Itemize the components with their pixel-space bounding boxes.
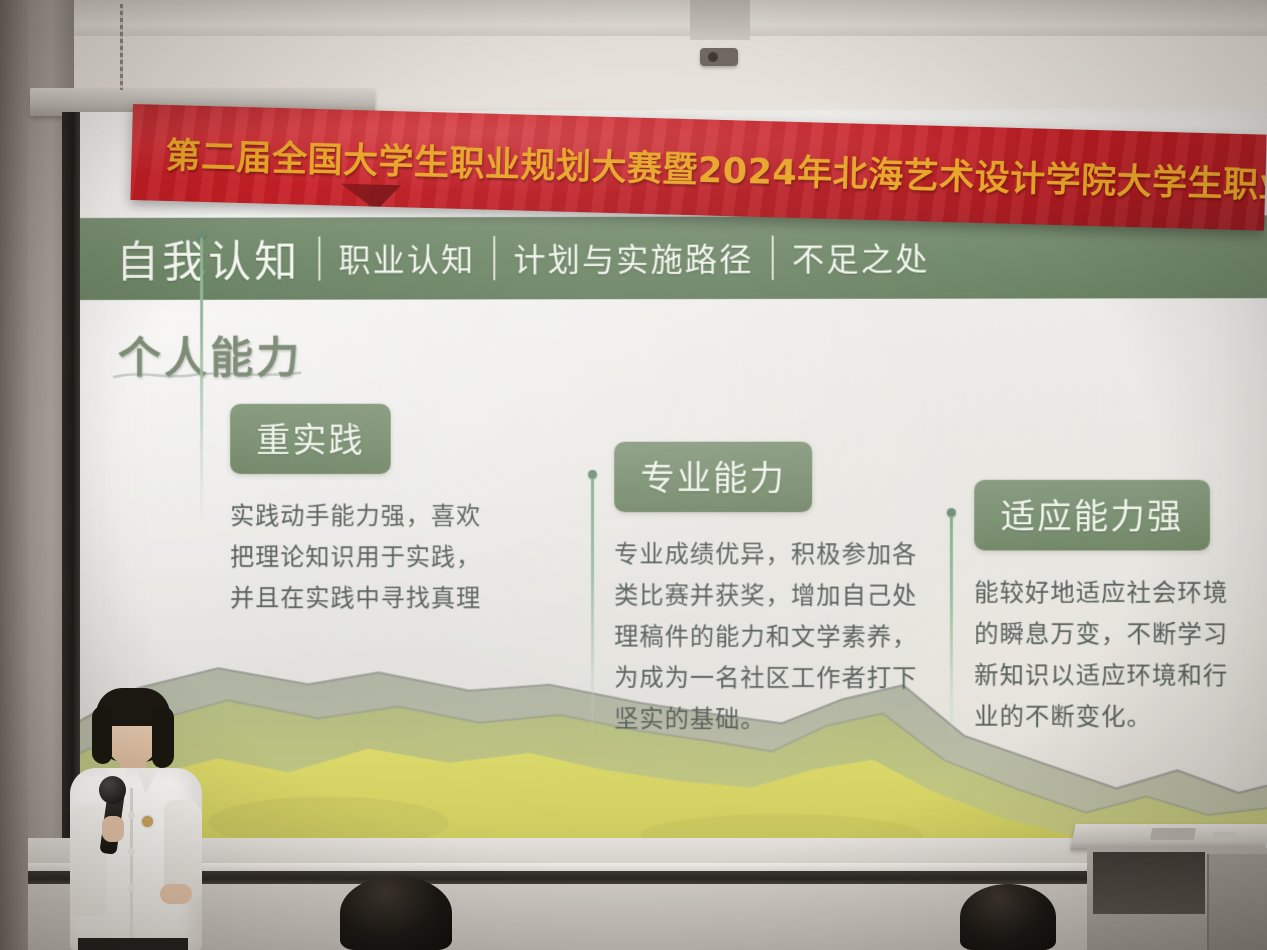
- nav-separator: [493, 236, 495, 280]
- card-body-1: 实践动手能力强，喜欢 把理论知识用于实践， 并且在实践中寻找真理: [230, 496, 562, 619]
- card-body-line: 业的不断变化。: [974, 696, 1267, 738]
- nav-separator: [318, 237, 320, 281]
- card-body-line: 新知识以适应环境和行: [974, 655, 1267, 697]
- nav-item-shortcomings[interactable]: 不足之处: [792, 234, 930, 281]
- event-banner-text: 第二届全国大学生职业规划大赛暨2024年北海艺术设计学院大学生职业生涯规划大赛校…: [165, 127, 1264, 208]
- card-body-2: 专业成绩优异，积极参加各 类比赛并获奖，增加自己处 理稿件的能力和文学素养， 为…: [614, 534, 948, 741]
- presentation-room-photo: 自我认知 职业认知 计划与实施路径 不足之处 个人能力: [0, 0, 1267, 950]
- wall-left-column: [0, 0, 30, 950]
- presenter: [44, 688, 224, 950]
- lectern-item: [1150, 828, 1196, 840]
- timeline-line-3: [950, 516, 953, 748]
- card-heading-pill-3: 适应能力强: [974, 480, 1210, 551]
- card-body-line: 专业成绩优异，积极参加各: [614, 534, 948, 575]
- card-heading-pill-1: 重实践: [230, 404, 391, 474]
- capability-card-1[interactable]: 重实践 实践动手能力强，喜欢 把理论知识用于实践， 并且在实践中寻找真理: [230, 404, 562, 620]
- timeline-connector-3: [950, 508, 953, 740]
- nav-item-self-awareness[interactable]: 自我认知: [116, 228, 300, 290]
- audience-head: [340, 876, 452, 950]
- pull-chain: [120, 4, 123, 90]
- card-body-3: 能较好地适应社会环境 的瞬息万变，不断学习 新知识以适应环境和行 业的不断变化。: [974, 573, 1267, 739]
- card-body-line: 的瞬息万变，不断学习: [974, 614, 1267, 656]
- card-body-line: 坚实的基础。: [614, 699, 948, 741]
- card-body-line: 为成为一名社区工作者打下: [614, 658, 948, 700]
- slide-section-title: 个人能力: [118, 324, 302, 386]
- shirt-badge: [142, 816, 153, 827]
- card-body-line: 把理论知识用于实践，: [230, 537, 562, 578]
- timeline-connector-2: [591, 470, 594, 736]
- card-heading-pill-2: 专业能力: [614, 442, 812, 512]
- capability-card-2[interactable]: 专业能力 专业成绩优异，积极参加各 类比赛并获奖，增加自己处 理稿件的能力和文学…: [614, 442, 948, 741]
- card-body-line: 实践动手能力强，喜欢: [230, 496, 562, 537]
- timeline-connector-1: [200, 230, 203, 520]
- timeline-line-2: [591, 478, 594, 744]
- capability-card-3[interactable]: 适应能力强 能较好地适应社会环境 的瞬息万变，不断学习 新知识以适应环境和行 业…: [974, 480, 1267, 738]
- nav-separator: [772, 236, 774, 280]
- lectern: [1055, 824, 1267, 950]
- ceiling-strip: [28, 0, 1267, 36]
- card-body-line: 能较好地适应社会环境: [974, 573, 1267, 615]
- nav-item-career-awareness[interactable]: 职业认知: [338, 235, 475, 281]
- slide-nav-bar: 自我认知 职业认知 计划与实施路径 不足之处: [78, 215, 1267, 300]
- card-body-line: 理稿件的能力和文学素养，: [614, 617, 948, 659]
- timeline-line-1: [200, 238, 203, 528]
- card-body-line: 并且在实践中寻找真理: [230, 578, 562, 619]
- ceiling-seam: [690, 0, 750, 40]
- lectern-item: [1212, 832, 1235, 839]
- audience-head: [960, 884, 1056, 950]
- nav-item-plan-and-path[interactable]: 计划与实施路径: [513, 235, 753, 282]
- ceiling-speaker-icon: [700, 48, 738, 66]
- card-body-line: 类比赛并获奖，增加自己处: [614, 575, 948, 617]
